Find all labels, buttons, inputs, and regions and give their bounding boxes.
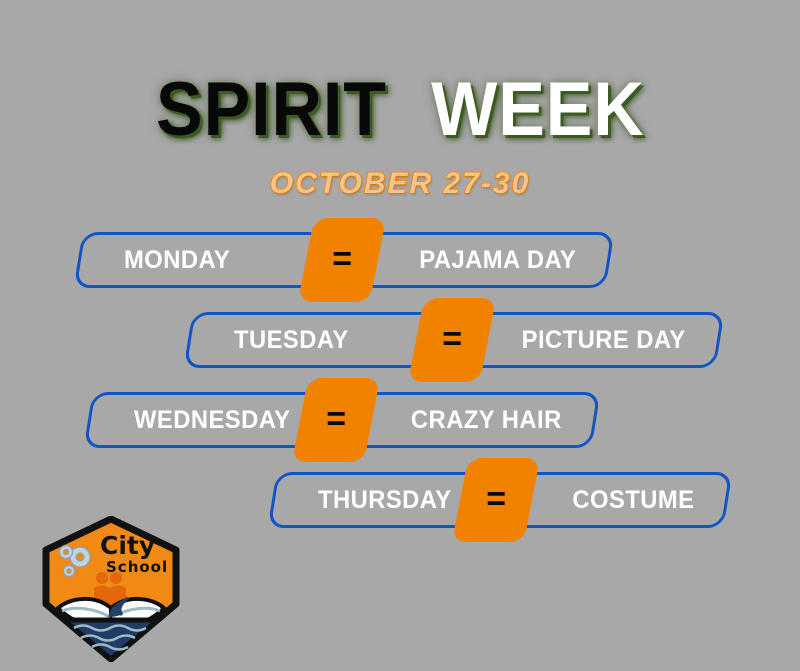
equals-icon: = xyxy=(486,482,506,516)
row-activity-label: COSTUME xyxy=(572,472,694,528)
schedule-row: WEDNESDAY = CRAZY HAIR xyxy=(88,392,596,448)
logo-name-school: School xyxy=(106,558,168,576)
schedule-row: TUESDAY = PICTURE DAY xyxy=(188,312,720,368)
equals-badge: = xyxy=(408,298,496,382)
school-logo: City School xyxy=(36,516,186,662)
row-day-label: THURSDAY xyxy=(318,472,452,528)
date-subtitle: OCTOBER 27-30 xyxy=(0,167,800,201)
equals-badge: = xyxy=(298,218,386,302)
logo-name-city: City xyxy=(100,531,155,560)
title-word-week: WEEK xyxy=(432,72,645,148)
equals-icon: = xyxy=(326,402,346,436)
row-activity-label: CRAZY HAIR xyxy=(411,392,562,448)
schedule-row: MONDAY = PAJAMA DAY xyxy=(78,232,610,288)
row-day-label: MONDAY xyxy=(124,232,230,288)
title-word-spirit: SPIRIT xyxy=(156,72,387,148)
row-day-label: TUESDAY xyxy=(234,312,349,368)
row-activity-label: PAJAMA DAY xyxy=(419,232,576,288)
row-day-label: WEDNESDAY xyxy=(134,392,290,448)
equals-icon: = xyxy=(442,322,462,356)
water-waves-icon xyxy=(64,620,158,659)
schedule-row: THURSDAY = COSTUME xyxy=(272,472,728,528)
equals-icon: = xyxy=(332,242,352,276)
page-title: SPIRITWEEK xyxy=(0,72,800,148)
spirit-week-poster: SPIRITWEEK OCTOBER 27-30 MONDAY = PAJAMA… xyxy=(0,0,800,671)
row-activity-label: PICTURE DAY xyxy=(522,312,686,368)
equals-badge: = xyxy=(292,378,380,462)
equals-badge: = xyxy=(452,458,540,542)
